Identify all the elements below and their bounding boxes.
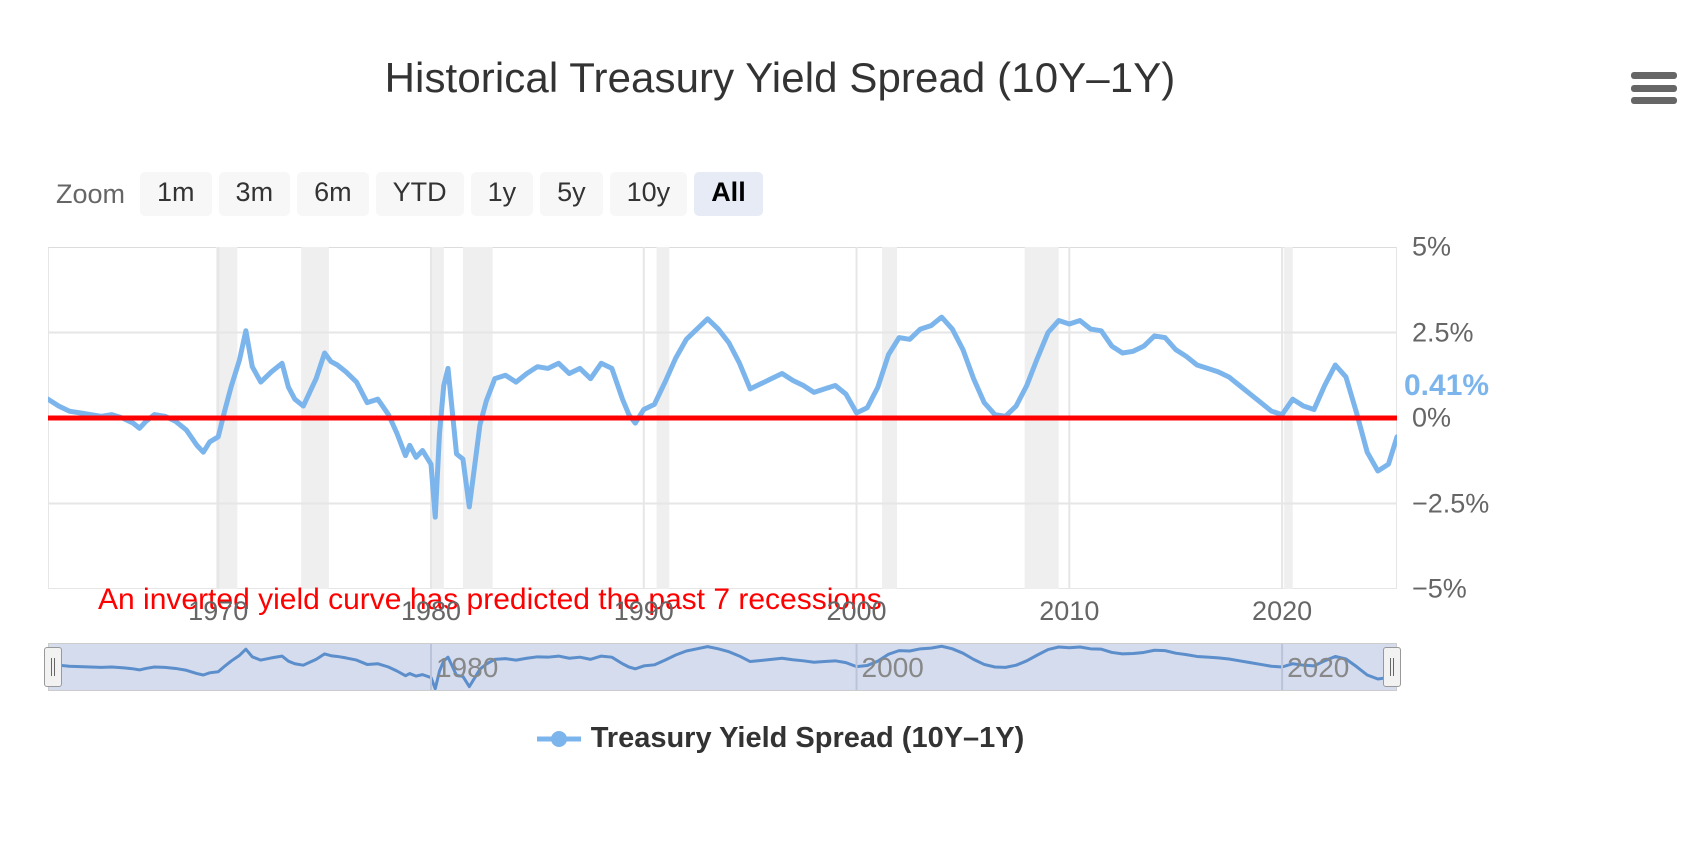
menu-bar-1	[1631, 72, 1677, 79]
legend-marker-icon	[536, 729, 582, 749]
x-axis-label: 2010	[1039, 596, 1099, 627]
x-axis-label: 1970	[188, 596, 248, 627]
y-axis-label: −5%	[1412, 574, 1467, 605]
y-axis-label: 2.5%	[1412, 317, 1474, 348]
hamburger-menu-icon[interactable]	[1629, 68, 1681, 108]
x-axis-label: 1980	[401, 596, 461, 627]
range-button-3m[interactable]: 3m	[219, 172, 291, 216]
range-selector-label: Zoom	[56, 179, 125, 210]
navigator-series-line	[48, 646, 1397, 689]
last-value-label: 0.41%	[1404, 369, 1489, 403]
menu-bar-2	[1631, 85, 1677, 92]
navigator-series-svg	[48, 643, 1397, 691]
x-axis-label: 1990	[614, 596, 674, 627]
plot-svg	[48, 247, 1397, 589]
grip-line	[1390, 658, 1391, 676]
x-axis-label: 2000	[827, 596, 887, 627]
legend-item-treasury-yield-spread[interactable]: Treasury Yield Spread (10Y–1Y)	[536, 722, 1025, 755]
range-button-all[interactable]: All	[694, 172, 763, 216]
x-axis-label: 2020	[1252, 596, 1312, 627]
navigator-handle-right[interactable]	[1383, 647, 1401, 687]
range-button-ytd[interactable]: YTD	[376, 172, 464, 216]
page-title: Historical Treasury Yield Spread (10Y–1Y…	[0, 54, 1560, 102]
range-button-1m[interactable]: 1m	[140, 172, 212, 216]
navigator[interactable]: 198020002020	[48, 643, 1397, 691]
navigator-handle-left[interactable]	[44, 647, 62, 687]
y-axis-label: −2.5%	[1412, 488, 1489, 519]
legend: Treasury Yield Spread (10Y–1Y)	[0, 722, 1560, 755]
plot-area[interactable]	[48, 247, 1397, 589]
range-selector: Zoom 1m3m6mYTD1y5y10yAll	[56, 170, 763, 218]
range-button-5y[interactable]: 5y	[540, 172, 603, 216]
range-button-10y[interactable]: 10y	[610, 172, 688, 216]
stock-chart: Historical Treasury Yield Spread (10Y–1Y…	[0, 0, 1703, 856]
grip-line	[1393, 658, 1394, 676]
y-axis-label: 0%	[1412, 403, 1451, 434]
legend-label: Treasury Yield Spread (10Y–1Y)	[591, 722, 1025, 755]
range-button-1y[interactable]: 1y	[471, 172, 534, 216]
y-axis-label: 5%	[1412, 232, 1451, 263]
grip-line	[54, 658, 55, 676]
menu-bar-3	[1631, 97, 1677, 104]
navigator-year-label: 1980	[436, 652, 498, 684]
navigator-year-label: 2020	[1287, 652, 1349, 684]
grip-line	[51, 658, 52, 676]
navigator-year-label: 2000	[862, 652, 924, 684]
range-button-6m[interactable]: 6m	[297, 172, 369, 216]
